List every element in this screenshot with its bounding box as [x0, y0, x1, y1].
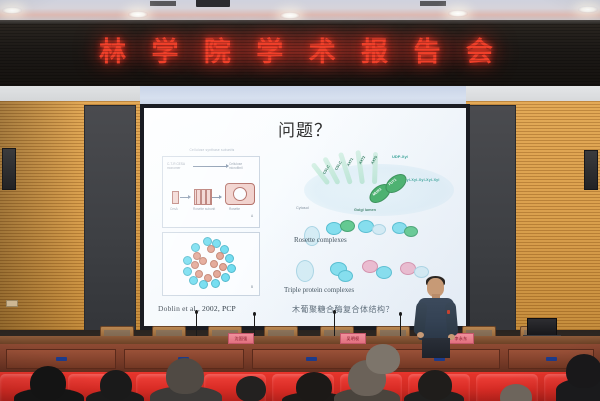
- rosette-dot: [191, 261, 199, 269]
- rosette-complexes-label: Rosette complexes: [294, 236, 347, 244]
- rosette-dot: [183, 256, 192, 265]
- mic-icon: [400, 314, 401, 338]
- ceiling-downlight-icon: [578, 6, 598, 13]
- audience-head: [296, 372, 332, 401]
- mic-icon: [399, 312, 402, 316]
- ceiling-downlight-icon: [448, 10, 468, 17]
- audience-head: [166, 358, 204, 394]
- rosette-dot: [227, 264, 236, 273]
- speaker-legs: [422, 338, 450, 358]
- speaker-person: [414, 278, 458, 356]
- complex-blob: [414, 266, 429, 278]
- audience-head: [366, 344, 400, 374]
- rosette-dot: [221, 273, 230, 282]
- mic-icon: [334, 312, 335, 338]
- golgi-diagram: CSLC CSLC XXT1 XXT2 XXT5 UDP-Xyl Xyl-Xyl…: [296, 150, 456, 226]
- rosette-dot: [225, 254, 234, 263]
- dark-wall-column-right: [464, 105, 516, 363]
- mic-icon: [195, 310, 198, 314]
- cesa-monomer: [172, 191, 179, 204]
- rosette-dot: [195, 270, 203, 278]
- ceiling-vent: [420, 1, 446, 6]
- rosette-dot: [219, 263, 227, 271]
- panel-b-mark: B: [251, 285, 253, 289]
- panel-a-arrowhead: [226, 164, 229, 168]
- desk-plaque-icon: [306, 357, 317, 361]
- placard-name: 沈国强: [235, 336, 248, 342]
- complex-blob: [338, 270, 353, 282]
- rosette-dot: [216, 252, 224, 260]
- slide-title: 问题？: [144, 116, 466, 141]
- audience-head: [30, 366, 66, 400]
- slide-figure-panel-a: Cellulose synthase subunits C-T-R CESA m…: [162, 156, 260, 228]
- rosette-subunit-part: [206, 189, 211, 205]
- golgi-lumen-label: Golgi lumen: [354, 208, 376, 212]
- projector-icon: [196, 0, 230, 7]
- rosette-dot: [191, 243, 200, 252]
- panel-a-right-note: Cellulose microfibril: [229, 162, 257, 170]
- wall-outlet-icon: [6, 300, 18, 307]
- conference-hall-photo: 林 学 院 学 术 报 告 会 问题？ Cellulose synthase s…: [0, 0, 600, 401]
- rosette-center: [233, 187, 247, 201]
- complex-blob: [372, 224, 386, 235]
- cytosol-label: Cytosol: [296, 206, 309, 210]
- panel-a-arrow: [193, 166, 227, 167]
- audience-head: [100, 370, 132, 400]
- wall-speaker-icon: [2, 148, 16, 190]
- stage-desk-top: [0, 336, 600, 344]
- complex-blob: [404, 226, 418, 237]
- ceiling-vent: [150, 1, 176, 6]
- desk-plaque-icon: [546, 357, 557, 361]
- wall-speaker-icon: [584, 150, 598, 190]
- rosette-dot: [207, 245, 215, 253]
- panel-a-step-label: CesA: [170, 207, 178, 211]
- led-pixel-grid: [0, 24, 600, 86]
- complex-blob: [296, 260, 314, 282]
- speaker-arm-right: [445, 302, 459, 337]
- name-placard: 吴明权: [340, 333, 366, 344]
- desk-plaque-icon: [56, 357, 67, 361]
- complex-blob: [340, 220, 355, 232]
- rosette-dot: [199, 280, 208, 289]
- panel-a-arrowhead: [219, 195, 222, 199]
- mic-icon: [196, 312, 197, 338]
- audience-head: [236, 376, 266, 401]
- ceiling-downlight-icon: [128, 11, 148, 18]
- xylan-chain-label: Xyl-Xyl-Xyl-Xyl-Xyl: [404, 178, 440, 182]
- name-placard: 沈国强: [228, 333, 254, 344]
- panel-a-mark: A: [251, 214, 253, 218]
- rosette-dot: [211, 279, 220, 288]
- ceiling-downlight-icon: [2, 7, 22, 14]
- mic-icon: [333, 310, 336, 314]
- mic-icon: [253, 312, 256, 316]
- panel-a-caption: Cellulose synthase subunits: [165, 148, 259, 152]
- rosette-dot: [210, 260, 218, 268]
- complex-blob: [376, 266, 392, 279]
- rosette-dot: [213, 270, 221, 278]
- panel-a-left-note: C-T-R CESA monomer: [167, 162, 193, 170]
- rosette-dot: [183, 267, 192, 276]
- udp-xyl-label: UDP-Xyl: [392, 154, 408, 159]
- slide-bottom-caption: 木葡聚糖合酶复合体结构？: [292, 304, 394, 315]
- dark-wall-column-left: [84, 105, 136, 363]
- panel-a-step-label: Rosette subunit: [193, 207, 215, 211]
- audience-head: [566, 354, 600, 388]
- speaker-badge: [447, 310, 450, 314]
- laptop-icon: [527, 318, 557, 336]
- ceiling-downlight-icon: [280, 12, 300, 19]
- placard-name: 吴明权: [347, 336, 360, 342]
- audience-head: [418, 370, 452, 400]
- rosette-dot: [199, 257, 207, 265]
- triple-complexes-label: Triple protein complexes: [284, 286, 354, 294]
- slide-figure-panel-b: B: [162, 232, 260, 296]
- panel-a-step-label: Rosette: [229, 207, 240, 211]
- panel-a-arrowhead: [188, 195, 191, 199]
- mic-icon: [254, 314, 255, 338]
